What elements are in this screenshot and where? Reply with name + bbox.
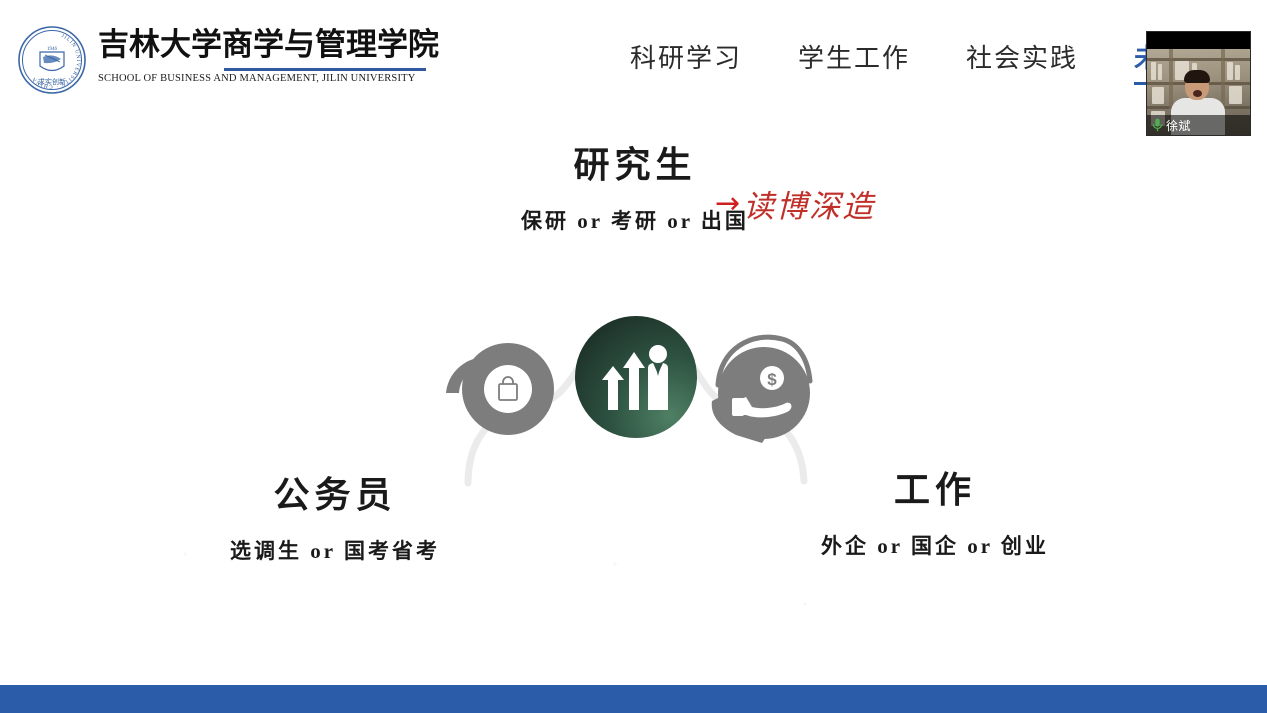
microphone-icon bbox=[1152, 118, 1163, 132]
svg-text:$: $ bbox=[767, 370, 777, 389]
participant-hair bbox=[1184, 70, 1210, 83]
logo-divider-rule bbox=[224, 68, 426, 71]
nav-item-label: 社会实践 bbox=[966, 43, 1078, 73]
svg-text:求实创新: 求实创新 bbox=[38, 77, 66, 86]
slide-bottom-bar bbox=[0, 685, 1267, 713]
presentation-slide: JILIN UNIVERSITY · CHINA 1946 求实创新 吉林大学商… bbox=[0, 0, 1267, 713]
path-civil-service: 公务员 选调生 or 国考省考 bbox=[170, 473, 500, 565]
school-logo: 吉林大学商学与管理学院 SCHOOL OF BUSINESS AND MANAG… bbox=[98, 24, 428, 90]
nav-item-student-work[interactable]: 学生工作 bbox=[798, 38, 910, 85]
school-name-en: SCHOOL OF BUSINESS AND MANAGEMENT, JILIN… bbox=[98, 73, 428, 84]
civil-service-title: 公务员 bbox=[170, 473, 500, 517]
slide-header: JILIN UNIVERSITY · CHINA 1946 求实创新 吉林大学商… bbox=[0, 0, 1267, 118]
slide-nav: 科研学习 学生工作 社会实践 未来 bbox=[630, 38, 1190, 82]
nav-item-label: 学生工作 bbox=[798, 43, 910, 73]
nav-item-label: 科研学习 bbox=[630, 43, 742, 73]
nav-item-research[interactable]: 科研学习 bbox=[630, 38, 742, 85]
jilin-university-seal-icon: JILIN UNIVERSITY · CHINA 1946 求实创新 bbox=[16, 24, 88, 96]
slide-body: · · · 研究生 保研 or 考研 or 出国 → 读博深造 bbox=[0, 118, 1267, 678]
work-title: 工作 bbox=[770, 468, 1100, 512]
annotation-text: 读博深造 bbox=[743, 181, 875, 226]
hand-money-icon: $ bbox=[730, 365, 800, 423]
shopping-bag-icon bbox=[484, 365, 532, 413]
school-name-cn: 吉林大学商学与管理学院 bbox=[98, 24, 428, 66]
participant-name: 徐斌 bbox=[1166, 117, 1191, 134]
civil-service-subtitle: 选调生 or 国考省考 bbox=[170, 535, 500, 565]
svg-text:1946: 1946 bbox=[47, 47, 58, 52]
background-mark: · bbox=[800, 588, 810, 622]
nav-item-social-practice[interactable]: 社会实践 bbox=[966, 38, 1078, 85]
red-annotation: → 读博深造 bbox=[715, 181, 875, 226]
work-subtitle: 外企 or 国企 or 创业 bbox=[770, 530, 1100, 560]
arrow-right-icon: → bbox=[715, 189, 740, 219]
background-mark: · bbox=[610, 548, 620, 582]
path-work: 工作 外企 or 国企 or 创业 bbox=[770, 468, 1100, 560]
participant-label: 徐斌 bbox=[1147, 115, 1250, 135]
participant-mouth bbox=[1193, 90, 1202, 97]
career-growth-icon bbox=[575, 316, 697, 438]
video-participant-tile[interactable]: 徐斌 bbox=[1146, 31, 1251, 136]
